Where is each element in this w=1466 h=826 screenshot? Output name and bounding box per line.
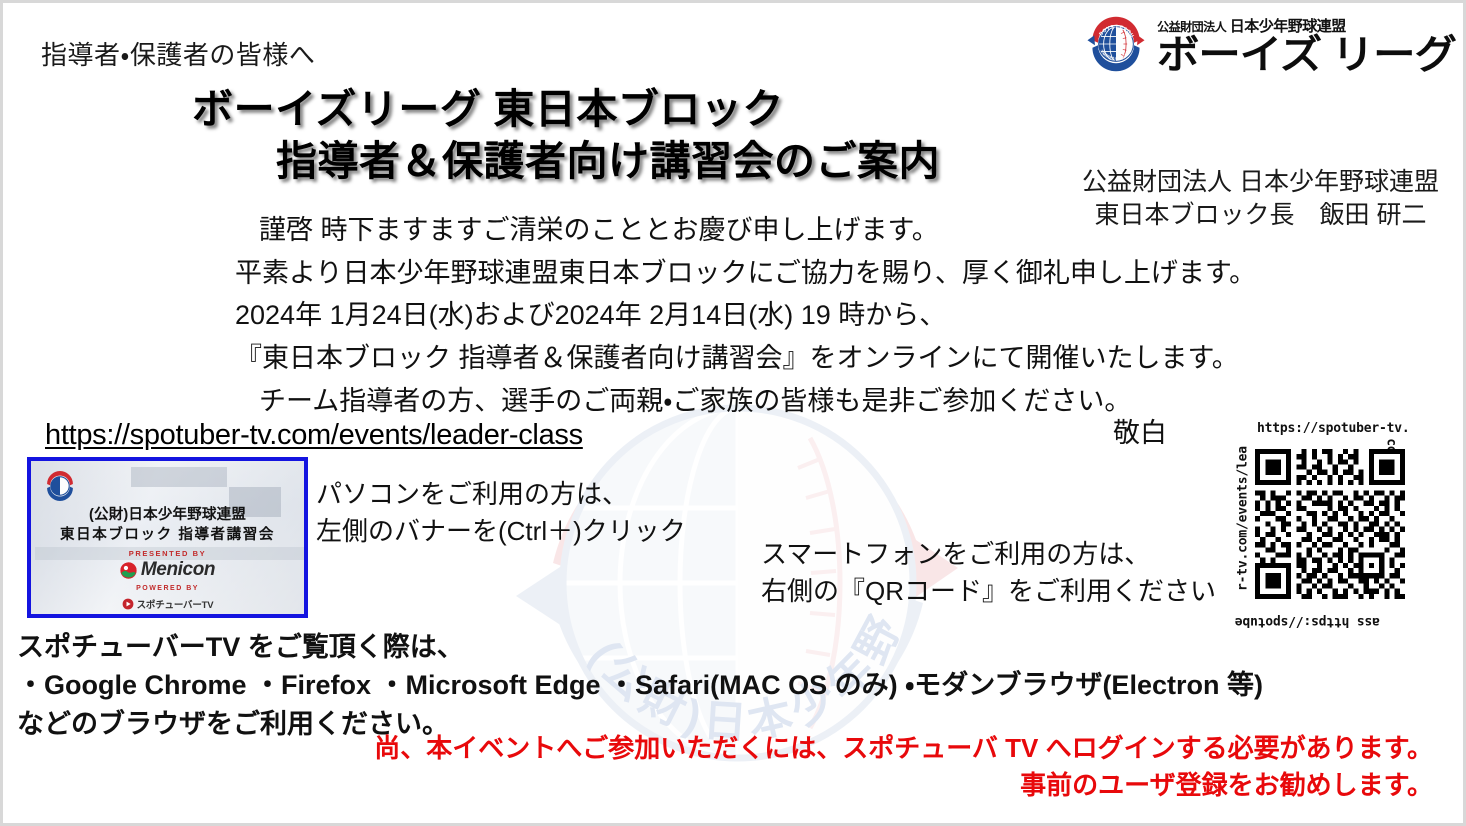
body-line-1: 謹啓 時下ますますご清栄のこととお慶び申し上げます。 (235, 209, 1235, 252)
title-line-1: ボーイズリーグ 東日本ブロック (3, 83, 1093, 135)
banner-sponsor-logo: Menicon (31, 559, 304, 581)
menicon-mark-icon (120, 562, 137, 579)
banner-presented-by-label: PRESENTED BY (31, 549, 304, 558)
warning-line-1: 尚、本イベントへご参加いただくには、スポチューバ TV へログインする必要があり… (3, 730, 1433, 767)
event-banner-thumbnail[interactable]: (公財)日本少年野球連盟 東日本ブロック 指導者講習会 PRESENTED BY… (27, 457, 308, 618)
banner-decor-shape-1 (131, 467, 227, 487)
spotuber-mark-icon (122, 598, 134, 610)
title-line-2: 指導者＆保護者向け講習会のご案内 (3, 135, 1093, 187)
smartphone-instructions: スマートフォンをご利用の方は、 右側の『QRコード』をご利用ください (761, 536, 1216, 610)
logo-katakana: ボーイズ リーグ (1157, 37, 1456, 74)
qr-code-block[interactable]: https://spotuber-tv. com/events/leader-c… (1221, 415, 1439, 633)
qr-edge-text-left: r-tv.com/events/lea (1236, 429, 1251, 609)
body-line-5: チーム指導者の方、選手のご両親・ご家族の皆様も是非ご参加ください。 (235, 380, 1235, 423)
pc-instruction-line-1: パソコンをご利用の方は、 (316, 476, 686, 513)
sp-instruction-line-1: スマートフォンをご利用の方は、 (761, 536, 1216, 573)
addressee-text: 指導者・保護者の皆様へ (41, 35, 315, 72)
qr-code-icon[interactable] (1255, 449, 1405, 599)
login-warning-block: 尚、本イベントへご参加いただくには、スポチューバ TV へログインする必要があり… (3, 730, 1433, 804)
event-url-link[interactable]: https://spotuber-tv.com/events/leader-cl… (45, 419, 583, 452)
pc-instructions: パソコンをご利用の方は、 左側のバナーを(Ctrl＋)クリック (316, 476, 686, 550)
body-line-2: 平素より日本少年野球連盟東日本ブロックにご協力を賜り、厚く御礼申し上げます。 (235, 252, 1235, 295)
signature-org: 公益財団法人 日本少年野球連盟 (1082, 166, 1439, 199)
announcement-slide: (公財)日本少年野球連盟 指導者・保護者の皆様へ (0, 0, 1466, 826)
banner-emblem-icon (43, 469, 77, 503)
banner-powered-by-label: POWERED BY (31, 585, 304, 592)
boys-league-emblem-icon: BOYS LEAGUE 公益財団法人日本少年野球連盟 (1085, 13, 1147, 75)
boys-league-logo: BOYS LEAGUE 公益財団法人日本少年野球連盟 公益財団法人 日本少年野球… (1085, 13, 1439, 75)
body-closing: 敬白 (1113, 411, 1167, 450)
banner-title-line-1: (公財)日本少年野球連盟 (31, 503, 304, 524)
banner-title-line-2: 東日本ブロック 指導者講習会 (31, 523, 304, 544)
browser-list-line: ・Google Chrome ・Firefox ・Microsoft Edge … (17, 666, 1263, 704)
supported-browsers-block: スポチューバーTV をご覧頂く際は、 ・Google Chrome ・Firef… (17, 628, 1263, 743)
logo-kanji-prefix: 公益財団法人 (1157, 20, 1226, 34)
body-line-3: 2024年 1月24日(水)および2024年 2月14日(水) 19 時から、 (235, 294, 1235, 337)
qr-edge-text-bottom: ass https://spotube (1235, 614, 1380, 629)
page-title: ボーイズリーグ 東日本ブロック 指導者＆保護者向け講習会のご案内 (3, 83, 1093, 188)
pc-instruction-line-2: 左側のバナーを(Ctrl＋)クリック (316, 513, 686, 550)
warning-line-2: 事前のユーザ登録をお勧めします。 (3, 767, 1433, 804)
sp-instruction-line-2: 右側の『QRコード』をご利用ください (761, 573, 1216, 610)
body-paragraphs: 謹啓 時下ますますご清栄のこととお慶び申し上げます。 平素より日本少年野球連盟東… (235, 209, 1235, 422)
browser-intro-line: スポチューバーTV をご覧頂く際は、 (17, 628, 1263, 666)
spotuber-wordmark: スポチューバーTV (137, 597, 214, 611)
body-line-4: 『東日本ブロック 指導者＆保護者向け講習会』をオンラインにて開催いたします。 (235, 337, 1235, 380)
menicon-wordmark: Menicon (141, 559, 215, 581)
banner-platform-logo: スポチューバーTV (31, 597, 304, 611)
